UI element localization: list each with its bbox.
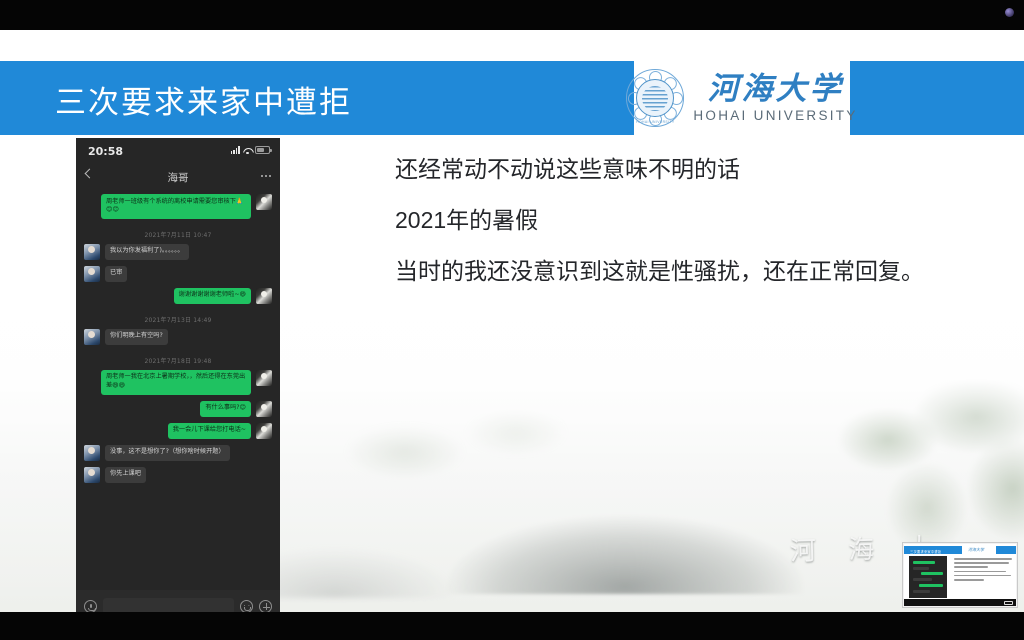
logo-chinese-name: 河海大学 xyxy=(708,73,844,106)
chat-screenshot-image: 20:58 海哥 周老师一班级有个系统的离校申请需要您审核下🙏😊😊 2021年7… xyxy=(76,138,280,612)
slide-canvas: 河 海 大 三次要求来家中遭拒 HOHAI UNIVERSITY 河海大学 xyxy=(0,30,1024,612)
chat-row-incoming: 没事，这不是想你了?（想你啥时候开题） xyxy=(84,445,272,461)
pip-chat-thumbnail xyxy=(909,556,947,598)
message-timestamp: 2021年7月18日 19:48 xyxy=(84,356,272,365)
avatar xyxy=(84,266,100,282)
chat-row-incoming: 我以为你发福利了)。。。。。。 xyxy=(84,244,272,260)
university-seal-icon: HOHAI UNIVERSITY xyxy=(626,69,684,127)
pip-logo-text: 河海大学 xyxy=(968,547,984,553)
chat-row-outgoing: 有什么事吗?😊 xyxy=(84,401,272,417)
avatar xyxy=(84,445,100,461)
wifi-icon xyxy=(243,147,252,154)
body-line-2: 2021年的暑假 xyxy=(395,209,995,232)
avatar xyxy=(256,194,272,210)
message-bubble: 我以为你发福利了)。。。。。。 xyxy=(105,244,189,260)
chat-row-outgoing: 谢谢谢谢谢谢老师啦~😄 xyxy=(84,288,272,304)
phone-status-bar: 20:58 xyxy=(76,138,280,164)
signal-icon xyxy=(231,146,240,154)
bottom-letterbox-bar xyxy=(0,612,1024,640)
picture-in-picture-preview[interactable]: 三次要求来家中遭拒 河海大学 xyxy=(902,542,1018,608)
university-logo: HOHAI UNIVERSITY 河海大学 HOHAI UNIVERSITY xyxy=(634,57,850,139)
more-dots-icon xyxy=(261,175,271,177)
message-bubble: 没事，这不是想你了?（想你啥时候开题） xyxy=(105,445,230,461)
slide-body-text: 还经常动不动说这些意味不明的话 2021年的暑假 当时的我还没意识到这就是性骚扰… xyxy=(395,158,995,283)
recording-dot-icon xyxy=(1005,8,1014,17)
avatar xyxy=(84,467,100,483)
chat-input-bar xyxy=(76,590,280,612)
emoji-icon xyxy=(240,600,253,613)
chat-row-incoming: 已审 xyxy=(84,266,272,282)
pip-slide-thumbnail: 三次要求来家中遭拒 河海大学 xyxy=(904,544,1016,599)
message-bubble: 我一会儿下课给您打电话~ xyxy=(168,423,251,439)
chat-row-outgoing: 我一会儿下课给您打电话~ xyxy=(84,423,272,439)
back-chevron-icon xyxy=(85,169,95,179)
body-line-3: 当时的我还没意识到这就是性骚扰，还在正常回复。 xyxy=(395,260,995,283)
pip-logo: 河海大学 xyxy=(962,545,996,555)
chat-contact-name: 海哥 xyxy=(168,170,189,185)
pip-control-bar[interactable] xyxy=(904,599,1016,606)
message-bubble: 周老师一我在北京上暑期学校，，然后还得在东莞出差😄😄 xyxy=(101,370,251,395)
status-indicators xyxy=(231,146,270,154)
plus-icon xyxy=(259,600,272,613)
seal-english-text: HOHAI UNIVERSITY xyxy=(626,120,684,124)
message-input-field xyxy=(103,598,234,612)
message-bubble: 已审 xyxy=(105,266,127,282)
top-letterbox-bar xyxy=(0,0,1024,30)
message-timestamp: 2021年7月13日 14:49 xyxy=(84,315,272,324)
phone-nav-bar: 海哥 xyxy=(76,164,280,190)
avatar xyxy=(256,423,272,439)
page-title: 三次要求来家中遭拒 xyxy=(55,77,352,122)
avatar xyxy=(84,244,100,260)
chat-row-outgoing: 周老师一班级有个系统的离校申请需要您审核下🙏😊😊 xyxy=(84,194,272,219)
avatar xyxy=(256,401,272,417)
chat-row-outgoing: 周老师一我在北京上暑期学校，，然后还得在东莞出差😄😄 xyxy=(84,370,272,395)
logo-english-name: HOHAI UNIVERSITY xyxy=(693,108,857,123)
voice-icon xyxy=(84,600,97,613)
message-bubble: 你们明晚上有空吗? xyxy=(105,329,168,345)
avatar xyxy=(256,288,272,304)
avatar xyxy=(84,329,100,345)
chat-row-incoming: 你先上课吧 xyxy=(84,467,272,483)
chat-message-list: 周老师一班级有个系统的离校申请需要您审核下🙏😊😊 2021年7月11日 10:4… xyxy=(76,190,280,590)
chat-row-incoming: 你们明晚上有空吗? xyxy=(84,329,272,345)
avatar xyxy=(256,370,272,386)
battery-icon xyxy=(255,146,270,154)
message-timestamp: 2021年7月11日 10:47 xyxy=(84,230,272,239)
status-time: 20:58 xyxy=(88,145,123,158)
play-controls-icon[interactable] xyxy=(1004,601,1013,605)
pip-body-text xyxy=(954,558,1014,583)
title-banner: 三次要求来家中遭拒 xyxy=(0,61,1024,135)
message-bubble: 你先上课吧 xyxy=(105,467,146,483)
pip-title: 三次要求来家中遭拒 xyxy=(910,549,941,554)
body-line-1: 还经常动不动说这些意味不明的话 xyxy=(395,158,995,181)
logo-wordmark: 河海大学 HOHAI UNIVERSITY xyxy=(693,73,857,123)
message-bubble: 有什么事吗?😊 xyxy=(200,401,251,417)
pip-banner: 三次要求来家中遭拒 xyxy=(904,546,1016,554)
message-bubble: 谢谢谢谢谢谢老师啦~😄 xyxy=(174,288,251,304)
message-bubble: 周老师一班级有个系统的离校申请需要您审核下🙏😊😊 xyxy=(101,194,251,219)
